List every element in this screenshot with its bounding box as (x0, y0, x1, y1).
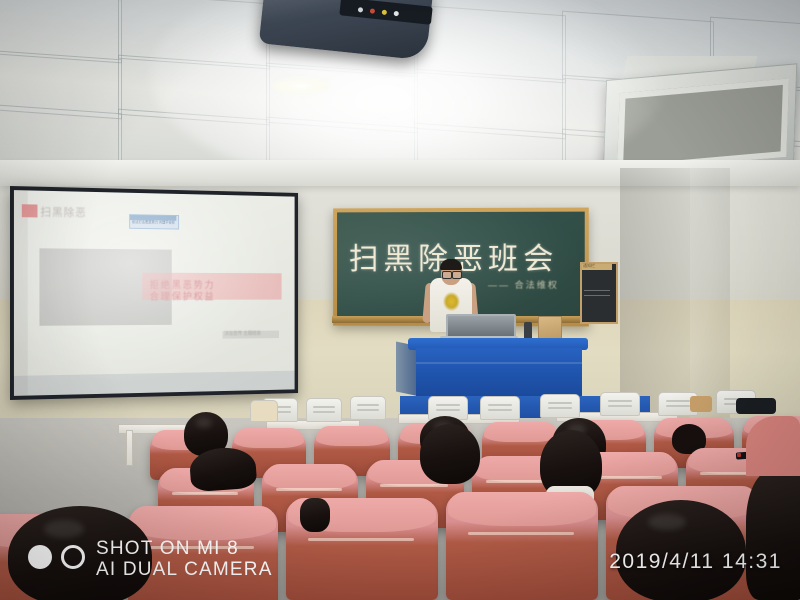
projected-slide: 扫黑除恶 依法打击黑恶势力 共建平安校园 拒绝黑恶势力 合理保护权益 法治宣传 … (14, 190, 295, 396)
white-chair[interactable] (540, 394, 580, 418)
watermark-text: SHOT ON MI 8 AI DUAL CAMERA (96, 538, 273, 580)
presenter-hair (440, 259, 462, 270)
seat-headrest (484, 422, 558, 442)
notice-board (580, 262, 618, 324)
white-chair[interactable] (600, 392, 640, 416)
watermark-logo (28, 543, 100, 571)
screen-glare (14, 190, 295, 396)
projector-led-white (358, 7, 363, 12)
outline-circle-icon (61, 545, 85, 569)
tan-box (690, 396, 712, 412)
student-head (746, 470, 800, 600)
seat-headrest (130, 506, 276, 540)
seat-headrest (264, 464, 356, 490)
white-chair[interactable] (350, 396, 386, 420)
notice-board-surface (582, 264, 616, 322)
projector-led-red (370, 8, 375, 13)
seat-headrest (316, 426, 388, 446)
student-shoulder (746, 416, 800, 476)
seat-headrest (234, 428, 304, 448)
fluorescent-light-icon (272, 78, 330, 94)
photo-canvas: 扫黑除恶 依法打击黑恶势力 共建平安校园 拒绝黑恶势力 合理保护权益 法治宣传 … (0, 0, 800, 600)
glasses-lens-right (452, 271, 462, 279)
watermark-line-1: SHOT ON MI 8 (96, 538, 273, 559)
blackboard-subtitle: —— 合法维权 (488, 278, 559, 291)
projector-led-yellow (382, 10, 387, 15)
glasses-lens-left (442, 271, 452, 279)
projection-screen: 扫黑除恶 依法打击黑恶势力 共建平安校园 拒绝黑恶势力 合理保护权益 法治宣传 … (10, 186, 298, 400)
notice-board-header-text: 通知栏 (583, 263, 595, 269)
filled-circle-icon (28, 545, 52, 569)
shirt-graphic (443, 292, 460, 311)
student-head (420, 424, 480, 484)
wooden-chair[interactable] (250, 400, 278, 422)
podium-seam (416, 362, 582, 364)
white-chair[interactable] (480, 396, 520, 420)
phone-camera-dot (737, 453, 741, 457)
podium-body (416, 348, 582, 396)
photo-timestamp: 2019/4/11 14:31 (609, 550, 782, 574)
black-bag (736, 398, 776, 414)
white-chair[interactable] (306, 398, 342, 422)
desk-leg (126, 430, 133, 466)
ceiling (0, 0, 800, 172)
watermark-line-2: AI DUAL CAMERA (96, 559, 273, 580)
projector-led-indicator (394, 11, 399, 16)
seat-headrest (448, 492, 596, 526)
student-head (300, 498, 330, 532)
